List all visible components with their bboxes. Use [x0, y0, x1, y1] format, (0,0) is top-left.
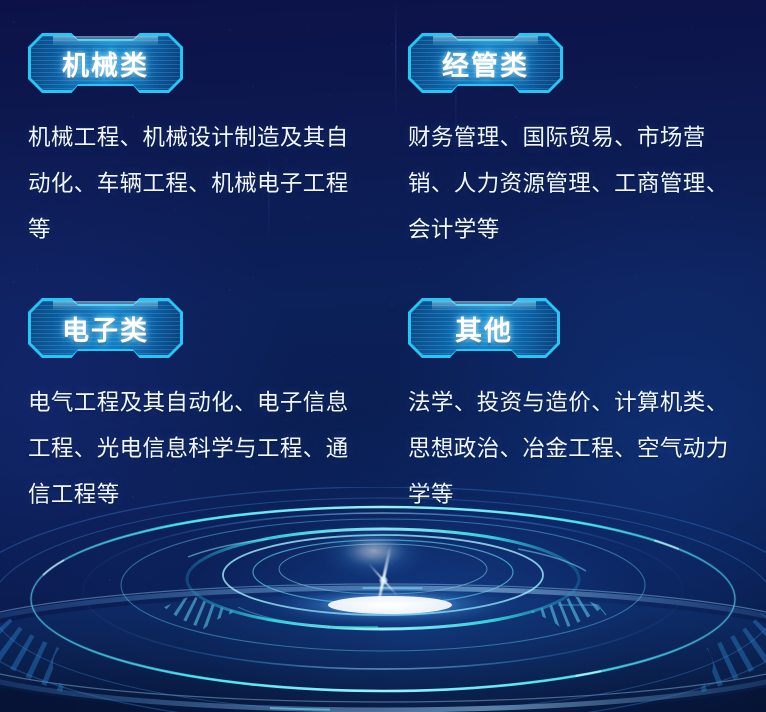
category-block-mechanical: 机械类 机械工程、机械设计制造及其自动化、车辆工程、机械电子工程等	[0, 0, 385, 265]
category-badge-mechanical[interactable]: 机械类	[28, 33, 183, 93]
category-badge-electronics[interactable]: 电子类	[28, 298, 183, 358]
center-spark-icon	[381, 578, 384, 581]
category-description: 电气工程及其自动化、电子信息工程、光电信息科学与工程、通信工程等	[28, 380, 365, 518]
category-description: 法学、投资与造价、计算机类、思想政治、冶金工程、空气动力学等	[408, 380, 748, 518]
category-grid: 机械类 机械工程、机械设计制造及其自动化、车辆工程、机械电子工程等 经管类 财务…	[0, 0, 766, 530]
category-description: 机械工程、机械设计制造及其自动化、车辆工程、机械电子工程等	[28, 115, 365, 253]
category-block-other: 其他 法学、投资与造价、计算机类、思想政治、冶金工程、空气动力学等	[408, 265, 746, 530]
category-badge-label: 其他	[455, 309, 513, 348]
category-badge-label: 机械类	[62, 44, 149, 83]
category-description: 财务管理、国际贸易、市场营销、人力资源管理、工商管理、会计学等	[408, 115, 748, 253]
center-spark-dot	[379, 576, 388, 585]
poster-canvas: 机械类 机械工程、机械设计制造及其自动化、车辆工程、机械电子工程等 经管类 财务…	[0, 0, 766, 712]
category-badge-business[interactable]: 经管类	[408, 33, 563, 93]
category-block-electronics: 电子类 电气工程及其自动化、电子信息工程、光电信息科学与工程、通信工程等	[0, 265, 385, 530]
category-badge-label: 经管类	[442, 44, 529, 83]
category-badge-other[interactable]: 其他	[408, 298, 560, 358]
category-badge-label: 电子类	[62, 309, 149, 348]
category-block-business: 经管类 财务管理、国际贸易、市场营销、人力资源管理、工商管理、会计学等	[408, 0, 746, 265]
